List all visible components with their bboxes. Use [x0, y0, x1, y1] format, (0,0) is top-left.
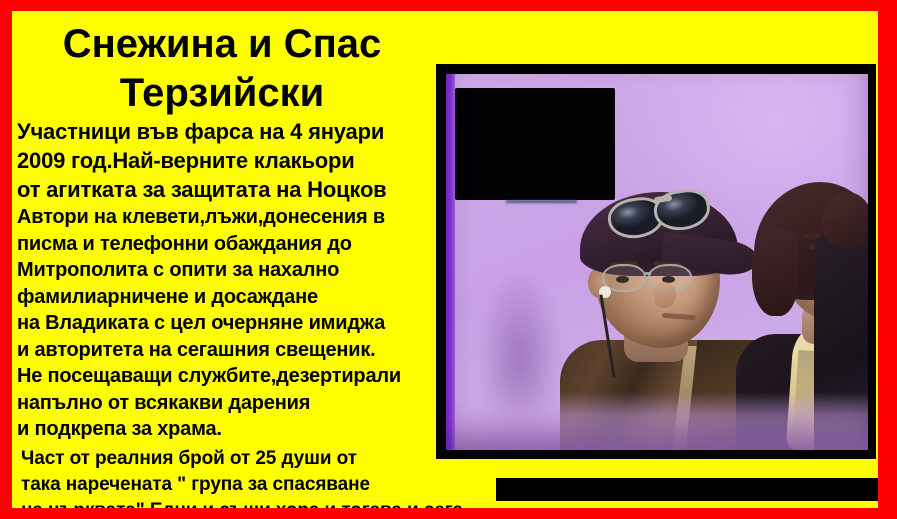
photo-redaction-rectangle: [455, 88, 615, 200]
text-line: 2009 год.Най-верните клакьори: [17, 146, 447, 175]
text-line: на църквата".Едни и същи хора и тогава и…: [21, 498, 447, 509]
page-title-line-2: Терзийски: [12, 69, 432, 118]
man-nose: [654, 282, 676, 308]
text-line: така наречената " група за спасяване: [21, 472, 447, 498]
text-line: на Владиката с цел очерняне имиджа: [17, 310, 447, 337]
poster-root: Снежина и Спас Терзийски Участници във ф…: [0, 0, 897, 519]
text-line: Част от реалния брой от 25 души от: [21, 446, 447, 472]
paragraph-intro: Участници във фарса на 4 януари 2009 год…: [17, 117, 447, 204]
page-title: Снежина и Спас Терзийски: [12, 20, 432, 118]
text-line: Участници във фарса на 4 януари: [17, 117, 447, 146]
text-line: и подкрепа за храма.: [17, 416, 447, 443]
photo-image: [446, 74, 868, 450]
text-line: напълно от всякакви дарения: [17, 390, 447, 417]
eyeglasses-bridge: [645, 272, 651, 275]
page-title-line-1: Снежина и Спас: [12, 20, 432, 69]
text-line: фамилиарничене и досаждане: [17, 284, 447, 311]
photo-floor-band: [455, 392, 868, 450]
photo-frame: [436, 64, 876, 459]
paragraph-accusations: Автори на клевети,лъжи,донесения в писма…: [17, 204, 447, 443]
text-line: Не посещаващи службите,дезертирали: [17, 363, 447, 390]
man-eye-left: [616, 276, 629, 283]
text-line: писма и телефонни обаждания до: [17, 231, 447, 258]
redaction-bar-bottom: [496, 478, 878, 501]
photo-purple-stripe: [446, 74, 455, 450]
text-line: и авторитета на сегашния свещеник.: [17, 337, 447, 364]
paragraph-group-note: Част от реалния брой от 25 души от така …: [17, 446, 447, 509]
poster-yellow-panel: Снежина и Спас Терзийски Участници във ф…: [12, 11, 878, 508]
text-line: Автори на клевети,лъжи,донесения в: [17, 204, 447, 231]
text-line: от агитката за защитата на Ноцков: [17, 175, 447, 204]
text-line: Митрополита с опити за нахално: [17, 257, 447, 284]
body-text-column: Участници във фарса на 4 януари 2009 год…: [17, 117, 447, 508]
